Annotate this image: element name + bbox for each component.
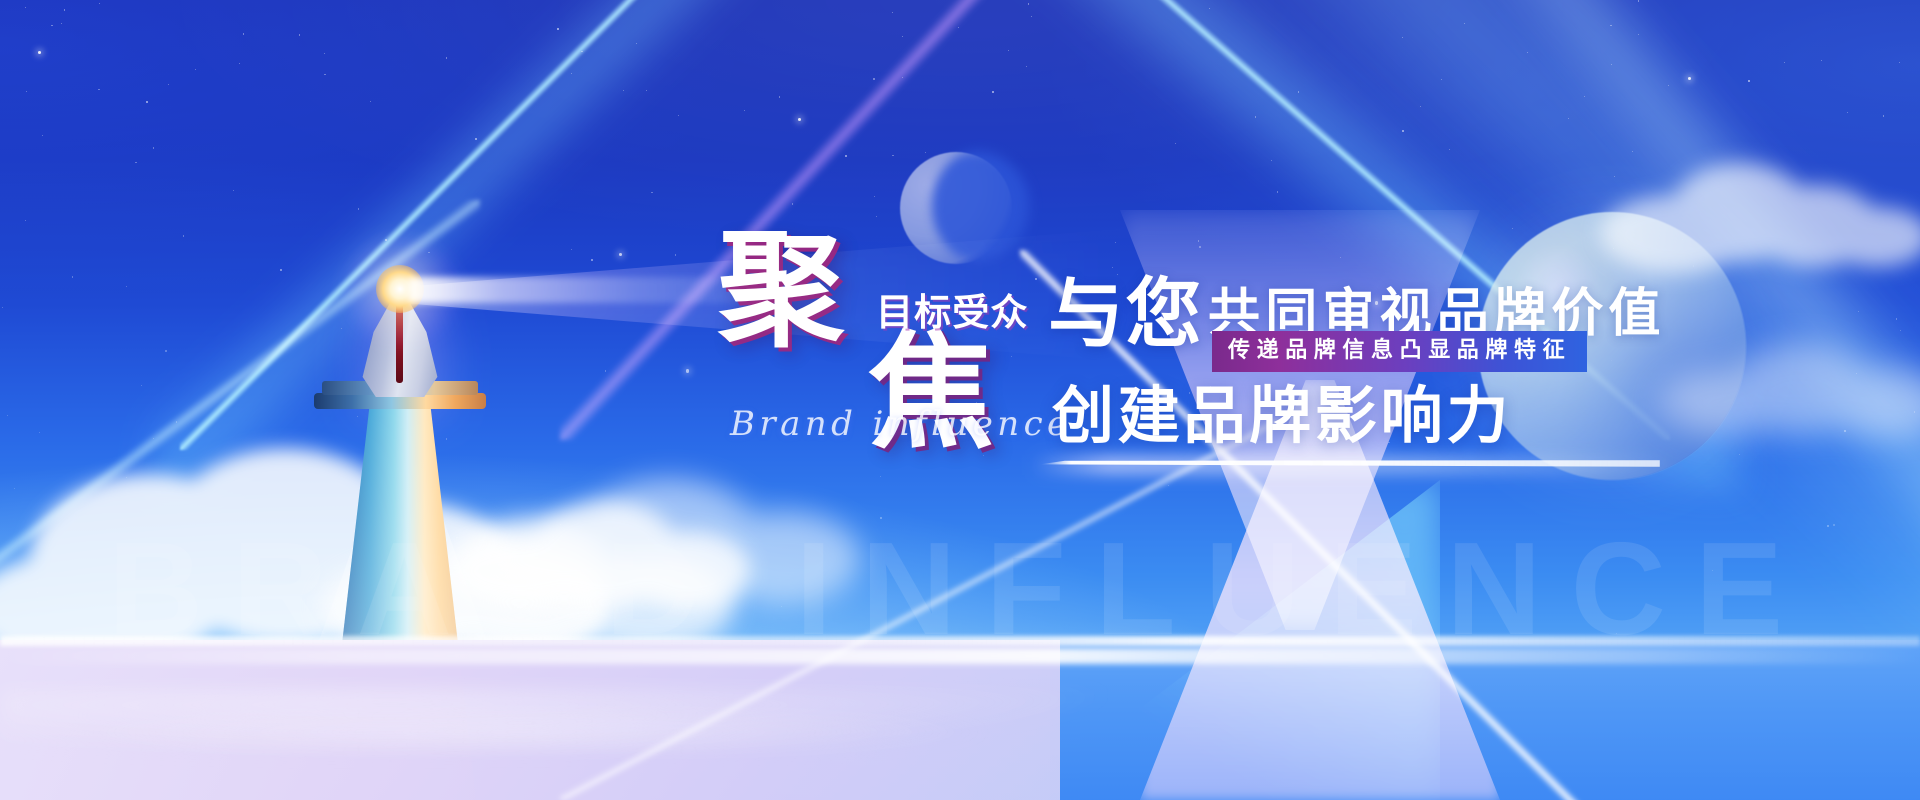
sea-horizon-line	[0, 636, 1920, 646]
audience-label: 目标受众	[876, 282, 1028, 336]
cloud-middle	[480, 470, 860, 610]
sea-wave-secondary	[80, 710, 1180, 754]
lead-text: 与您	[1048, 276, 1203, 352]
promo-banner: BRAND INFLUENCE 聚 焦 目标受众 Brand influence…	[0, 0, 1920, 800]
brand-influence-script: Brand influence	[730, 404, 1072, 444]
headline-secondary: 创建品牌影响力	[1052, 385, 1512, 447]
tagline-badge: 传递品牌信息凸显品牌特征	[1212, 331, 1587, 372]
headline-char-ju: 聚	[718, 228, 844, 354]
